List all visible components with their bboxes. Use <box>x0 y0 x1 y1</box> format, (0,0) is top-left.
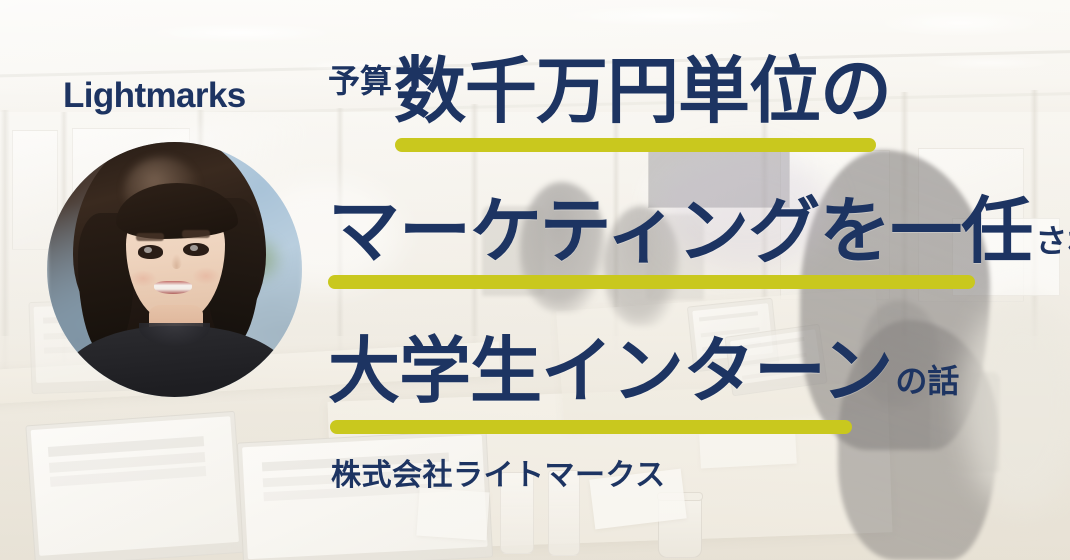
headline-line-1-lead: 予算 <box>328 65 392 97</box>
paper-sheet <box>416 488 489 541</box>
headline-line-1-main: 数千万円単位の <box>394 55 891 128</box>
headline-line-2-main: マーケティングを一任 <box>328 195 1032 268</box>
cheek-left <box>129 270 157 288</box>
highlight-bar <box>328 275 975 289</box>
headline-line-3-trail: の話 <box>895 365 959 397</box>
eyebrow-left <box>136 233 164 241</box>
window-mullion <box>0 110 10 370</box>
highlight-bar <box>395 138 876 152</box>
highlight-bar <box>330 420 852 434</box>
company-name: 株式会社ライトマークス <box>331 450 666 494</box>
cheek-right <box>192 267 220 285</box>
headline-block: 予算 数千万円単位の マーケティングを一任 された 大学生インターン の話 <box>328 55 1058 475</box>
headline-line-3-main: 大学生インターン <box>328 335 892 408</box>
brand-name: Lightmarks <box>63 76 246 116</box>
eyebrow-right <box>182 230 210 238</box>
headline-line-2-text: マーケティングを一任 された <box>328 195 1070 268</box>
ceiling-light-icon <box>880 10 1040 36</box>
eye-left <box>138 245 164 258</box>
headline-line-1: 予算 数千万円単位の <box>328 55 1058 195</box>
ceiling-light-icon <box>560 6 790 26</box>
headline-line-2-trail: された <box>1035 225 1070 257</box>
monitor <box>25 411 244 560</box>
headline-line-1-text: 予算 数千万円単位の <box>328 55 891 128</box>
headline-line-3-text: 大学生インターン の話 <box>328 335 959 408</box>
headline-line-2: マーケティングを一任 された <box>328 195 1058 335</box>
eye-right <box>183 243 209 256</box>
avatar <box>47 142 302 397</box>
thumbnail-canvas: Lightmarks 予算 数千万円単位の マーケティングを一任 された 大学生… <box>0 0 1070 560</box>
ceiling-light-icon <box>150 24 330 42</box>
